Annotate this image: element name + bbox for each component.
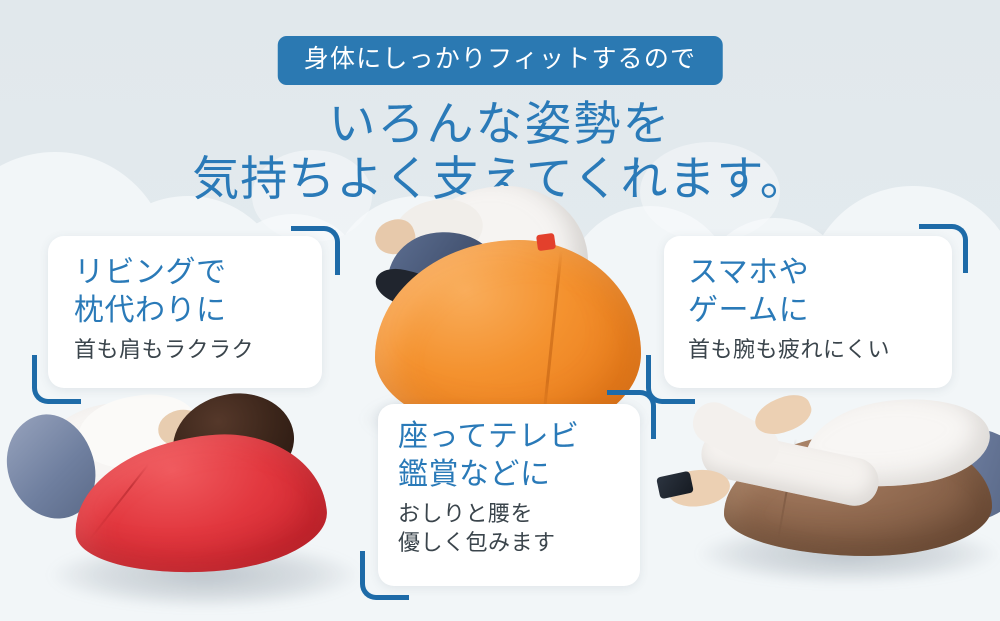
feature-card-sitting-tv[interactable]: 座ってテレビ 鑑賞などに おしりと腰を 優しく包みます — [378, 404, 640, 586]
photo-brown-cushion-smartphone — [628, 392, 1000, 602]
card-heading-line-1: リビングで — [74, 254, 254, 292]
photo-red-cushion-pillow — [0, 392, 370, 621]
cushion-tag — [536, 233, 556, 251]
feature-card-smartphone-game[interactable]: スマホや ゲームに 首も腕も疲れにくい — [664, 236, 952, 388]
card-heading-line-2: ゲームに — [688, 292, 890, 330]
card-heading-line-1: 座ってテレビ — [398, 418, 580, 456]
corner-bracket-icon — [291, 226, 340, 275]
advertisement-canvas: 身体にしっかりフィットするので いろんな姿勢を 気持ちよく支えてくれます。 — [0, 0, 1000, 621]
corner-bracket-icon — [919, 224, 968, 273]
corner-bracket-icon — [360, 551, 409, 600]
card-subtitle: 首も肩もラクラク — [74, 335, 254, 364]
card-heading-line-1: スマホや — [688, 254, 890, 292]
headline-line-1: いろんな姿勢を — [0, 96, 1000, 151]
card-subtitle-line-1: おしりと腰を — [398, 499, 580, 528]
tagline-banner: 身体にしっかりフィットするので — [278, 36, 723, 85]
card-subtitle-line-2: 優しく包みます — [398, 528, 580, 557]
card-heading-line-2: 枕代わりに — [74, 292, 254, 330]
card-heading-line-2: 鑑賞などに — [398, 456, 580, 494]
feature-card-living-pillow[interactable]: リビングで 枕代わりに 首も肩もラクラク — [48, 236, 322, 388]
card-subtitle: 首も腕も疲れにくい — [688, 335, 890, 364]
